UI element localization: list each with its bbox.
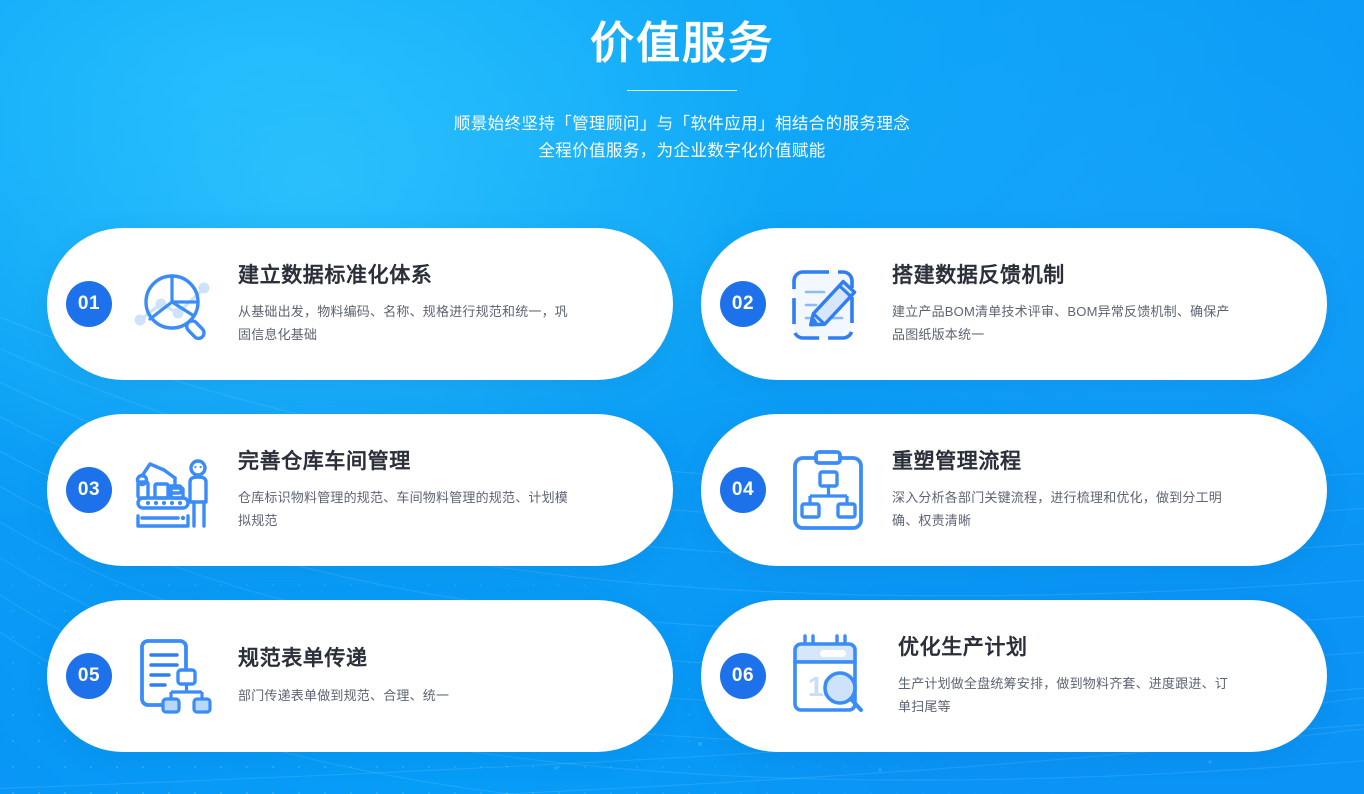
page-title: 价值服务 xyxy=(0,14,1364,73)
card-description: 部门传递表单做到规范、合理、统一 xyxy=(238,684,598,707)
page-header: 价值服务 顺景始终坚持「管理顾问」与「软件应用」相结合的服务理念 全程价值服务，… xyxy=(0,0,1364,165)
card-title: 优化生产计划 xyxy=(898,634,1303,661)
service-card-05[interactable]: 05 规范表单传递 部门传递表单做到规范、合理、统 xyxy=(47,600,673,752)
card-description: 从基础出发，物料编码、名称、规格进行规范和统一，巩固信息化基础 xyxy=(238,300,573,346)
card-title: 重塑管理流程 xyxy=(892,448,1303,475)
pie-chart-search-icon xyxy=(126,256,222,352)
card-text: 完善仓库车间管理 仓库标识物料管理的规范、车间物料管理的规范、计划模拟规范 xyxy=(238,448,673,532)
service-card-06[interactable]: 06 11 优化生产计划 生产计划做全盘统筹安排，做到物料齐套、进度跟进、订单扫… xyxy=(701,600,1327,752)
card-number-badge: 03 xyxy=(66,467,112,513)
document-pencil-icon xyxy=(780,256,876,352)
subtitle-line-2: 全程价值服务，为企业数字化价值赋能 xyxy=(0,138,1364,165)
card-text: 建立数据标准化体系 从基础出发，物料编码、名称、规格进行规范和统一，巩固信息化基… xyxy=(238,262,673,346)
card-number-badge: 06 xyxy=(720,653,766,699)
card-description: 深入分析各部门关键流程，进行梳理和优化，做到分工明确、权责清晰 xyxy=(892,486,1232,532)
card-title: 完善仓库车间管理 xyxy=(238,448,649,475)
card-number-badge: 05 xyxy=(66,653,112,699)
service-card-01[interactable]: 01 建立数据标准化体系 从基础出发，物料编码 xyxy=(47,228,673,380)
subtitle-line-1: 顺景始终坚持「管理顾问」与「软件应用」相结合的服务理念 xyxy=(0,111,1364,138)
service-card-grid: 01 建立数据标准化体系 从基础出发，物料编码 xyxy=(47,228,1317,752)
card-description: 建立产品BOM清单技术评审、BOM异常反馈机制、确保产品图纸版本统一 xyxy=(892,300,1232,346)
card-number-badge: 02 xyxy=(720,281,766,327)
service-card-02[interactable]: 02 搭建数据反馈机制 建立产品BOM清单技术评审、 xyxy=(701,228,1327,380)
card-description: 生产计划做全盘统筹安排，做到物料齐套、进度跟进、订单扫尾等 xyxy=(898,672,1238,718)
factory-conveyor-worker-icon xyxy=(126,442,222,538)
card-number-badge: 01 xyxy=(66,281,112,327)
title-divider xyxy=(627,90,737,91)
clipboard-hierarchy-icon xyxy=(780,442,876,538)
calendar-search-icon: 11 xyxy=(780,628,876,724)
service-card-04[interactable]: 04 重塑管理流程 深入分析各部门关键流程，进行梳理和优化，做到分工明确、权责清… xyxy=(701,414,1327,566)
document-flow-icon xyxy=(126,628,222,724)
card-title: 建立数据标准化体系 xyxy=(238,262,649,289)
card-text: 搭建数据反馈机制 建立产品BOM清单技术评审、BOM异常反馈机制、确保产品图纸版… xyxy=(892,262,1327,346)
card-text: 重塑管理流程 深入分析各部门关键流程，进行梳理和优化，做到分工明确、权责清晰 xyxy=(892,448,1327,532)
card-text: 优化生产计划 生产计划做全盘统筹安排，做到物料齐套、进度跟进、订单扫尾等 xyxy=(892,634,1327,718)
card-description: 仓库标识物料管理的规范、车间物料管理的规范、计划模拟规范 xyxy=(238,486,573,532)
card-title: 搭建数据反馈机制 xyxy=(892,262,1303,289)
card-text: 规范表单传递 部门传递表单做到规范、合理、统一 xyxy=(238,645,673,706)
page-subtitle: 顺景始终坚持「管理顾问」与「软件应用」相结合的服务理念 全程价值服务，为企业数字… xyxy=(0,111,1364,165)
service-card-03[interactable]: 03 xyxy=(47,414,673,566)
card-number-badge: 04 xyxy=(720,467,766,513)
card-title: 规范表单传递 xyxy=(238,645,649,672)
